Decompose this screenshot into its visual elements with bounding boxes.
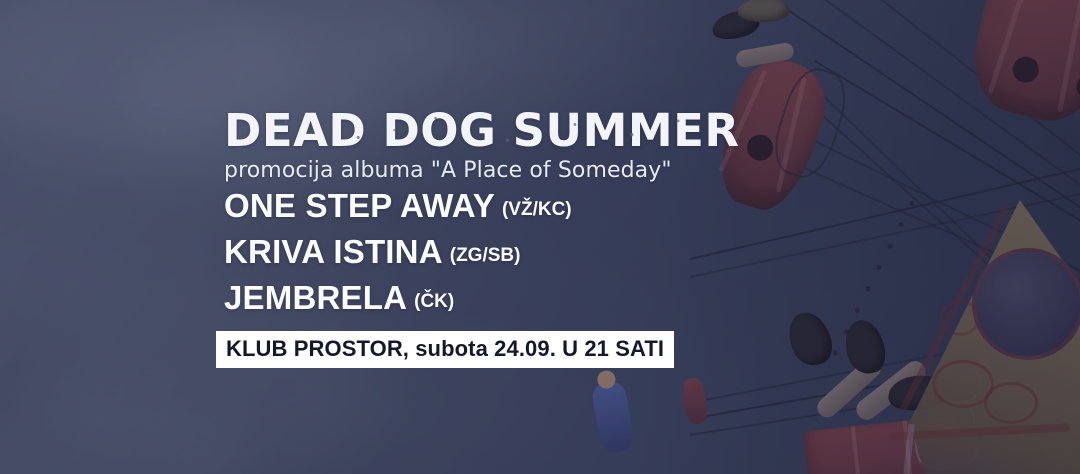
poster-text-block: DEAD DOG SUMMER promocija albuma "A Plac… [224, 108, 844, 368]
page-title: DEAD DOG SUMMER [224, 108, 740, 154]
venue-and-date: KLUB PROSTOR, subota 24.09. U 21 SATI [226, 337, 664, 361]
lineup-item-1: ONE STEP AWAY(VŽ/KC) [224, 185, 844, 231]
venue-bar: KLUB PROSTOR, subota 24.09. U 21 SATI [216, 331, 674, 368]
album-subtitle: promocija albuma "A Place of Someday" [224, 157, 844, 185]
event-poster: DEAD DOG SUMMER promocija albuma "A Plac… [0, 0, 1080, 474]
band-origin: (VŽ/KC) [502, 199, 572, 220]
lineup-item-3: JEMBRELA(ČK) [224, 277, 844, 323]
lineup-item-2: KRIVA ISTINA(ZG/SB) [224, 231, 844, 277]
band-origin: (ČK) [414, 291, 454, 312]
band-name: ONE STEP AWAY [224, 187, 495, 224]
band-name: KRIVA ISTINA [224, 233, 443, 270]
band-origin: (ZG/SB) [450, 245, 521, 266]
band-name: JEMBRELA [224, 279, 407, 316]
